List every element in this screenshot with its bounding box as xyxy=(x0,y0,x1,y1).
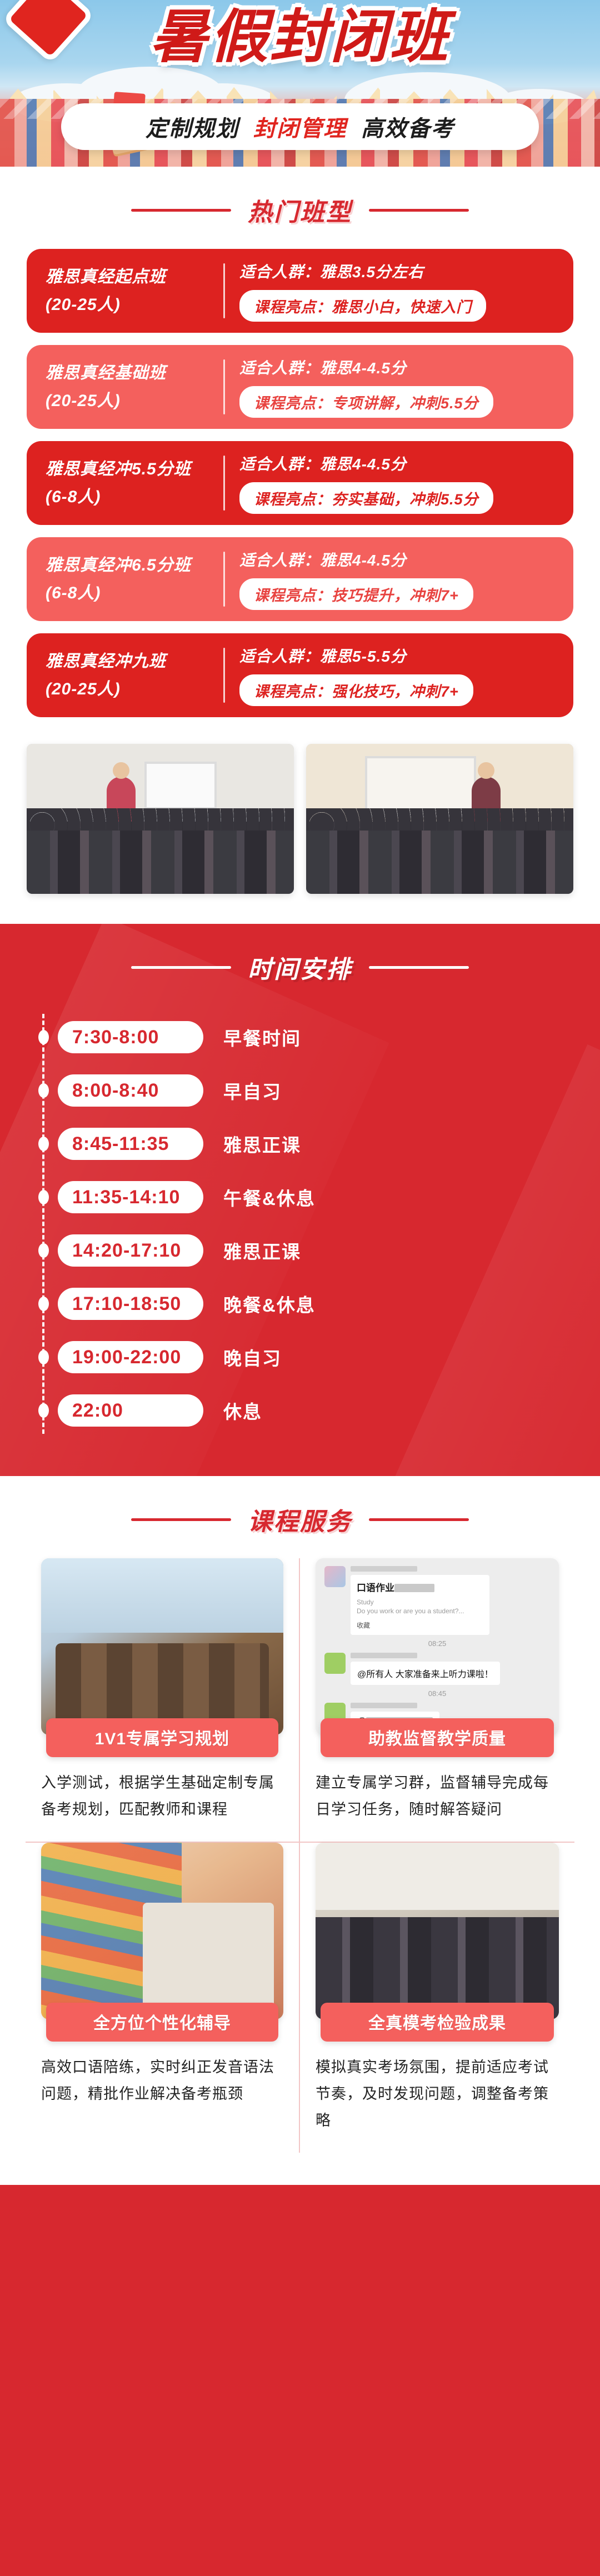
schedule-time: 7:30-8:00 xyxy=(58,1021,203,1053)
course-highlight: 课程亮点：技巧提升，冲刺7+ xyxy=(239,578,473,610)
service-photo-tutoring xyxy=(41,1843,283,2019)
course-audience: 适合人群：雅思5-5.5分 xyxy=(239,644,558,667)
timeline-dot-icon xyxy=(38,1297,49,1311)
service-photo-chat: 口语作业 Study Do you work or are you a stud… xyxy=(316,1558,559,1735)
course-card[interactable]: 雅思真经冲5.5分班 (6-8人) 适合人群：雅思4-4.5分 课程亮点：夯实基… xyxy=(27,441,573,525)
service-card[interactable]: 1V1专属学习规划 入学测试，根据学生基础定制专属备考规划，匹配教师和课程 xyxy=(26,1558,300,1843)
course-capacity: (6-8人) xyxy=(46,483,223,511)
students-figures xyxy=(306,822,573,894)
chat-bubble: @所有人 大家准备来上听力课啦！ xyxy=(351,1662,500,1685)
schedule-time: 8:00-8:40 xyxy=(58,1074,203,1107)
schedule-time: 22:00 xyxy=(58,1394,203,1427)
chat-message: @所有人 大家准备来上听力课啦！ xyxy=(324,1653,550,1685)
course-capacity: (6-8人) xyxy=(46,579,223,607)
course-highlight: 课程亮点：雅思小白，快速入门 xyxy=(239,290,486,322)
students-figures xyxy=(27,822,294,894)
schedule-row: 7:30-8:00 早餐时间 xyxy=(58,1011,573,1064)
schedule-activity: 晚餐&休息 xyxy=(223,1290,316,1317)
course-highlight: 课程亮点：专项讲解，冲刺5.5分 xyxy=(239,386,493,418)
schedule-activity: 雅思正课 xyxy=(223,1237,301,1264)
divider-line-right xyxy=(369,209,469,212)
chat-timestamp: 08:25 xyxy=(324,1639,550,1648)
schedule-row: 8:00-8:40 早自习 xyxy=(58,1064,573,1117)
schedule-activity: 休息 xyxy=(223,1397,262,1424)
services-grid: 1V1专属学习规划 入学测试，根据学生基础定制专属备考规划，匹配教师和课程 口语 xyxy=(26,1558,574,2153)
service-badge: 全方位个性化辅导 xyxy=(46,2003,279,2042)
vertical-divider xyxy=(223,456,225,511)
chat-sender-name xyxy=(351,1653,417,1658)
services-section-header: 课程服务 xyxy=(0,1476,600,1558)
vertical-divider xyxy=(223,263,225,318)
divider-line-right xyxy=(369,966,469,969)
course-highlight: 课程亮点：强化技巧，冲刺7+ xyxy=(239,674,473,706)
course-audience: 适合人群：雅思4-4.5分 xyxy=(239,452,558,474)
schedule-section-header: 时间安排 xyxy=(0,924,600,1006)
schedule-row: 8:45-11:35 雅思正课 xyxy=(58,1117,573,1171)
course-card[interactable]: 雅思真经冲九班 (20-25人) 适合人群：雅思5-5.5分 课程亮点：强化技巧… xyxy=(27,633,573,717)
schedule-time: 8:45-11:35 xyxy=(58,1128,203,1160)
vertical-divider xyxy=(223,359,225,414)
course-card[interactable]: 雅思真经冲6.5分班 (6-8人) 适合人群：雅思4-4.5分 课程亮点：技巧提… xyxy=(27,537,573,621)
schedule-time: 14:20-17:10 xyxy=(58,1234,203,1267)
course-details: 适合人群：雅思5-5.5分 课程亮点：强化技巧，冲刺7+ xyxy=(239,644,558,706)
schedule-row: 22:00 休息 xyxy=(58,1384,573,1437)
schedule-section-title: 时间安排 xyxy=(248,949,352,985)
timeline-dot-icon xyxy=(38,1030,49,1044)
service-description: 高效口语陪练，实时纠正发音语法问题，精批作业解决备考瓶颈 xyxy=(41,2054,283,2107)
timeline-dot-icon xyxy=(38,1243,49,1258)
course-name-line1: 雅思真经冲6.5分班 xyxy=(46,552,223,579)
projector-screen xyxy=(365,756,476,817)
services-section-title: 课程服务 xyxy=(248,1502,352,1537)
timeline-dot-icon xyxy=(38,1350,49,1364)
divider-line-right xyxy=(369,1518,469,1521)
service-description: 建立专属学习群，监督辅导完成每日学习任务，随时解答疑问 xyxy=(316,1769,559,1823)
course-name-line1: 雅思真经起点班 xyxy=(46,263,223,291)
course-capacity: (20-25人) xyxy=(46,291,223,319)
course-card[interactable]: 雅思真经起点班 (20-25人) 适合人群：雅思3.5分左右 课程亮点：雅思小白… xyxy=(27,249,573,333)
course-details: 适合人群：雅思4-4.5分 课程亮点：技巧提升，冲刺7+ xyxy=(239,548,558,610)
hero-keyword-1: 定制规划 xyxy=(146,111,239,143)
hero-subtitle-pill: 定制规划 封闭管理 高效备考 xyxy=(61,103,539,150)
schedule-section: 时间安排 7:30-8:00 早餐时间 8:00-8:40 早自习 8:4 xyxy=(0,924,600,1476)
service-card[interactable]: 全方位个性化辅导 高效口语陪练，实时纠正发音语法问题，精批作业解决备考瓶颈 xyxy=(26,1843,300,2153)
vertical-divider xyxy=(223,552,225,607)
classroom-photo xyxy=(306,744,573,894)
service-card[interactable]: 口语作业 Study Do you work or are you a stud… xyxy=(300,1558,574,1843)
services-grid-wrapper: 1V1专属学习规划 入学测试，根据学生基础定制专属备考规划，匹配教师和课程 口语 xyxy=(0,1558,600,2180)
hero-banner: 暑假封闭班 定制规划 封闭管理 高效备考 xyxy=(0,0,600,167)
courses-section-title: 热门班型 xyxy=(248,192,352,228)
hero-keyword-2: 封闭管理 xyxy=(253,111,347,143)
service-card[interactable]: 全真模考检验成果 模拟真实考场氛围，提前适应考试节奏，及时发现问题，调整备考策略 xyxy=(300,1843,574,2153)
chat-card-title: 口语作业 xyxy=(357,1580,483,1594)
timeline-dot-icon xyxy=(38,1403,49,1418)
classroom-photo-row xyxy=(0,735,600,919)
course-name: 雅思真经基础班 (20-25人) xyxy=(46,359,223,415)
chat-timestamp: 08:45 xyxy=(324,1689,550,1698)
course-name: 雅思真经冲九班 (20-25人) xyxy=(46,648,223,703)
course-name-line1: 雅思真经冲5.5分班 xyxy=(46,456,223,483)
schedule-row: 19:00-22:00 晚自习 xyxy=(58,1330,573,1384)
vertical-divider xyxy=(223,648,225,703)
schedule-activity: 午餐&休息 xyxy=(223,1184,316,1211)
chat-message-body: @所有人 大家准备来上听力课啦！ xyxy=(351,1653,500,1685)
service-badge: 1V1专属学习规划 xyxy=(46,1718,279,1757)
timeline-dot-icon xyxy=(38,1083,49,1098)
course-name-line1: 雅思真经基础班 xyxy=(46,359,223,387)
service-description: 模拟真实考场氛围，提前适应考试节奏，及时发现问题，调整备考策略 xyxy=(316,2054,559,2134)
footer-bar xyxy=(0,2185,600,2218)
schedule-time: 19:00-22:00 xyxy=(58,1341,203,1373)
redacted-text xyxy=(394,1584,434,1592)
service-description: 入学测试，根据学生基础定制专属备考规划，匹配教师和课程 xyxy=(41,1769,283,1823)
chat-card-footer: 收藏 xyxy=(357,1620,483,1630)
poster-page: 暑假封闭班 定制规划 封闭管理 高效备考 热门班型 雅思真经起点班 (20-25… xyxy=(0,0,600,2218)
course-capacity: (20-25人) xyxy=(46,387,223,415)
chat-message-body: 口语作业 Study Do you work or are you a stud… xyxy=(351,1566,489,1635)
service-photo-exam xyxy=(316,1843,559,2019)
course-name: 雅思真经冲6.5分班 (6-8人) xyxy=(46,552,223,607)
courses-section-header: 热门班型 xyxy=(0,167,600,249)
avatar xyxy=(324,1566,346,1587)
course-details: 适合人群：雅思4-4.5分 课程亮点：夯实基础，冲刺5.5分 xyxy=(239,452,558,514)
divider-line-left xyxy=(131,1518,231,1521)
schedule-activity: 晚自习 xyxy=(223,1344,282,1370)
page-title: 暑假封闭班 xyxy=(0,3,600,71)
schedule-time: 11:35-14:10 xyxy=(58,1181,203,1213)
chat-card-sub1: Study xyxy=(357,1598,483,1607)
schedule-activity: 早餐时间 xyxy=(223,1024,301,1051)
chat-card-sub2: Do you work or are you a student?... xyxy=(357,1607,483,1615)
course-details: 适合人群：雅思4-4.5分 课程亮点：专项讲解，冲刺5.5分 xyxy=(239,356,558,418)
schedule-activity: 早自习 xyxy=(223,1077,282,1104)
timeline-dot-icon xyxy=(38,1190,49,1204)
chat-sender-name xyxy=(351,1566,417,1572)
course-name: 雅思真经冲5.5分班 (6-8人) xyxy=(46,456,223,511)
course-audience: 适合人群：雅思4-4.5分 xyxy=(239,548,558,571)
chat-message: 口语作业 Study Do you work or are you a stud… xyxy=(324,1566,550,1635)
schedule-time: 17:10-18:50 xyxy=(58,1288,203,1320)
schedule-timeline: 7:30-8:00 早餐时间 8:00-8:40 早自习 8:45-11:35 … xyxy=(0,1006,600,1476)
chat-screenshot: 口语作业 Study Do you work or are you a stud… xyxy=(316,1558,559,1735)
classroom-photo xyxy=(27,744,294,894)
course-highlight: 课程亮点：夯实基础，冲刺5.5分 xyxy=(239,482,493,514)
divider-line-left xyxy=(131,209,231,212)
schedule-row: 14:20-17:10 雅思正课 xyxy=(58,1224,573,1277)
divider-line-left xyxy=(131,966,231,969)
course-card[interactable]: 雅思真经基础班 (20-25人) 适合人群：雅思4-4.5分 课程亮点：专项讲解… xyxy=(27,345,573,429)
timeline-rail xyxy=(42,1014,44,1434)
course-name-line1: 雅思真经冲九班 xyxy=(46,648,223,676)
services-section: 课程服务 1V1专属学习规划 入学测试，根据学生基础定制专属备考规划，匹配教师和… xyxy=(0,1476,600,2185)
courses-section: 热门班型 雅思真经起点班 (20-25人) 适合人群：雅思3.5分左右 课程亮点… xyxy=(0,167,600,924)
schedule-row: 17:10-18:50 晚餐&休息 xyxy=(58,1277,573,1330)
chat-sender-name xyxy=(351,1703,417,1708)
course-name: 雅思真经起点班 (20-25人) xyxy=(46,263,223,319)
schedule-activity: 雅思正课 xyxy=(223,1131,301,1157)
course-audience: 适合人群：雅思3.5分左右 xyxy=(239,260,558,282)
hero-keyword-3: 高效备考 xyxy=(361,111,454,143)
chat-card-title-text: 口语作业 xyxy=(357,1583,394,1593)
avatar xyxy=(324,1653,346,1674)
course-audience: 适合人群：雅思4-4.5分 xyxy=(239,356,558,378)
course-capacity: (20-25人) xyxy=(46,676,223,703)
service-badge: 助教监督教学质量 xyxy=(321,1718,554,1757)
service-photo-classroom xyxy=(41,1558,283,1735)
whiteboard xyxy=(144,762,217,809)
chat-link-card: 口语作业 Study Do you work or are you a stud… xyxy=(351,1575,489,1635)
timeline-dot-icon xyxy=(38,1137,49,1151)
timeline-wrapper: 7:30-8:00 早餐时间 8:00-8:40 早自习 8:45-11:35 … xyxy=(27,1011,573,1437)
course-list: 雅思真经起点班 (20-25人) 适合人群：雅思3.5分左右 课程亮点：雅思小白… xyxy=(0,249,600,735)
schedule-row: 11:35-14:10 午餐&休息 xyxy=(58,1171,573,1224)
course-details: 适合人群：雅思3.5分左右 课程亮点：雅思小白，快速入门 xyxy=(239,260,558,322)
service-badge: 全真模考检验成果 xyxy=(321,2003,554,2042)
